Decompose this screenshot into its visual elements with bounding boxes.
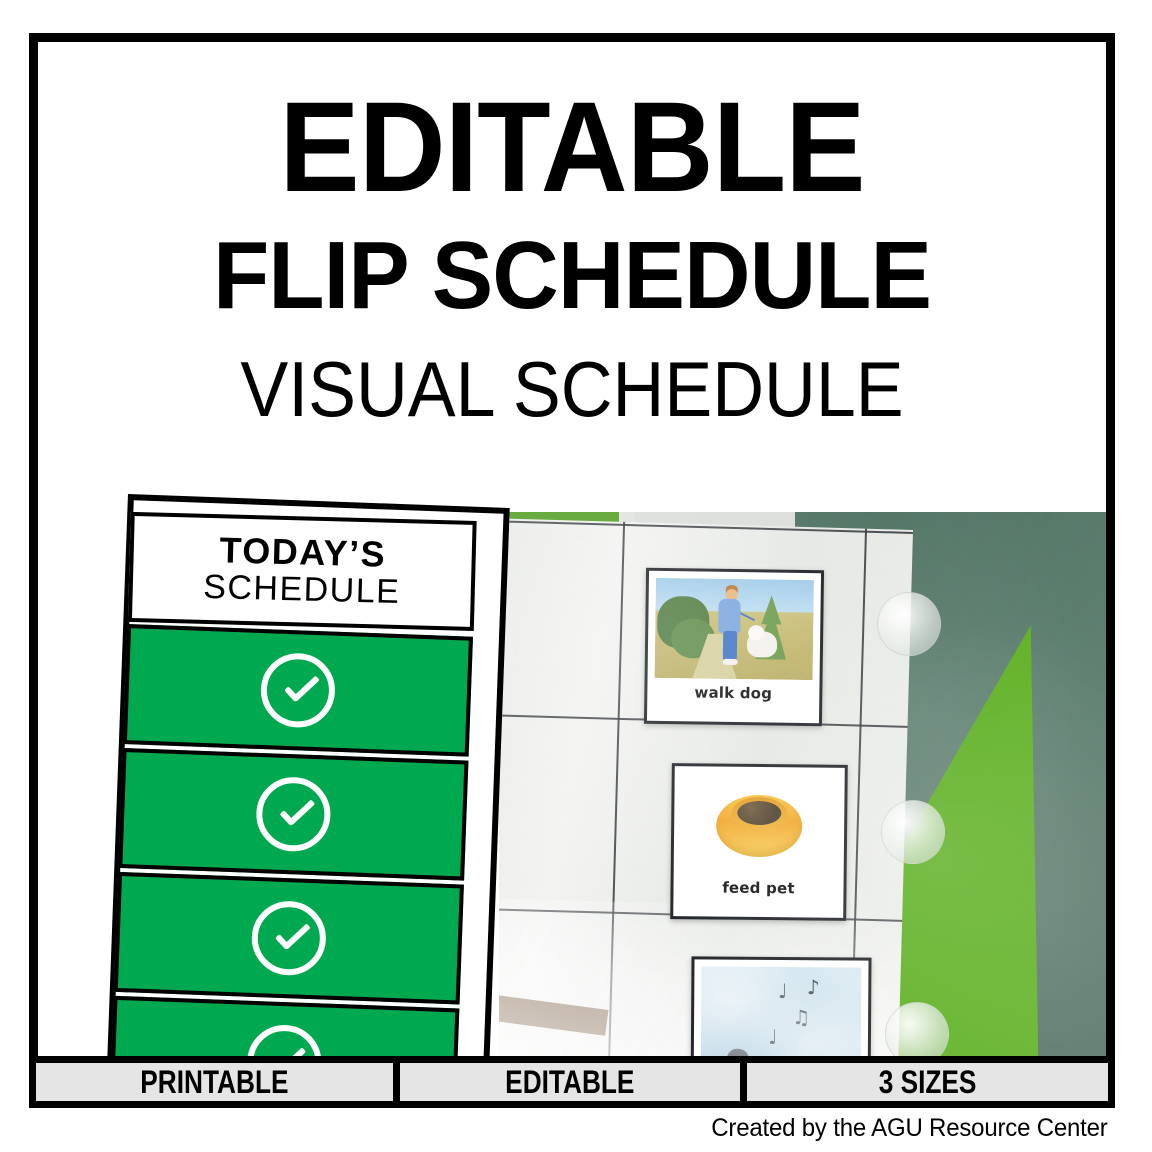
- check-circle-icon: [251, 900, 328, 977]
- cover-frame: EDITABLE FLIP SCHEDULE VISUAL SCHEDULE: [29, 33, 1115, 1083]
- feature-label: PRINTABLE: [141, 1064, 289, 1101]
- feature-editable[interactable]: EDITABLE: [400, 1063, 740, 1101]
- picture-card-label: feed pet: [680, 873, 836, 900]
- feature-label: EDITABLE: [506, 1064, 635, 1101]
- picture-card-label: walk dog: [654, 678, 812, 705]
- schedule-header-today: TODAY’S: [219, 532, 386, 574]
- velcro-dot: [877, 592, 941, 656]
- picture-card-image: [681, 773, 838, 875]
- photo-shadow-gap: [499, 994, 609, 1036]
- page-subtitle: VISUAL SCHEDULE: [81, 350, 1064, 428]
- feature-banner: PRINTABLE EDITABLE 3 SIZES: [29, 1056, 1115, 1108]
- picture-card-image: [655, 578, 814, 680]
- picture-card[interactable]: feed pet: [670, 763, 848, 921]
- schedule-row[interactable]: [114, 872, 464, 1005]
- schedule-header-schedule: SCHEDULE: [203, 569, 401, 612]
- product-photo: walk dog feed pet: [499, 512, 1115, 1083]
- feature-3-sizes[interactable]: 3 SIZES: [747, 1063, 1108, 1101]
- picture-card[interactable]: walk dog: [644, 568, 824, 726]
- schedule-row[interactable]: [118, 748, 468, 881]
- schedule-card-header: TODAY’S SCHEDULE: [128, 512, 477, 631]
- schedule-card-rows: [110, 624, 473, 1083]
- velcro-dot: [881, 800, 945, 864]
- product-cover: EDITABLE FLIP SCHEDULE VISUAL SCHEDULE: [0, 0, 1152, 1152]
- page-title-line2: FLIP SCHEDULE: [59, 228, 1084, 324]
- check-circle-icon: [255, 776, 332, 853]
- credit-line: Created by the AGU Resource Center: [711, 1114, 1107, 1143]
- banner-divider: [740, 1063, 747, 1101]
- check-circle-icon: [260, 652, 337, 729]
- banner-divider: [393, 1063, 400, 1101]
- page-title-line1: EDITABLE: [70, 84, 1074, 212]
- feature-printable[interactable]: PRINTABLE: [36, 1063, 393, 1101]
- feature-label: 3 SIZES: [879, 1064, 977, 1101]
- schedule-row[interactable]: [123, 624, 473, 757]
- schedule-card-graphic: TODAY’S SCHEDULE: [106, 494, 510, 1083]
- title-block: EDITABLE FLIP SCHEDULE VISUAL SCHEDULE: [38, 42, 1106, 428]
